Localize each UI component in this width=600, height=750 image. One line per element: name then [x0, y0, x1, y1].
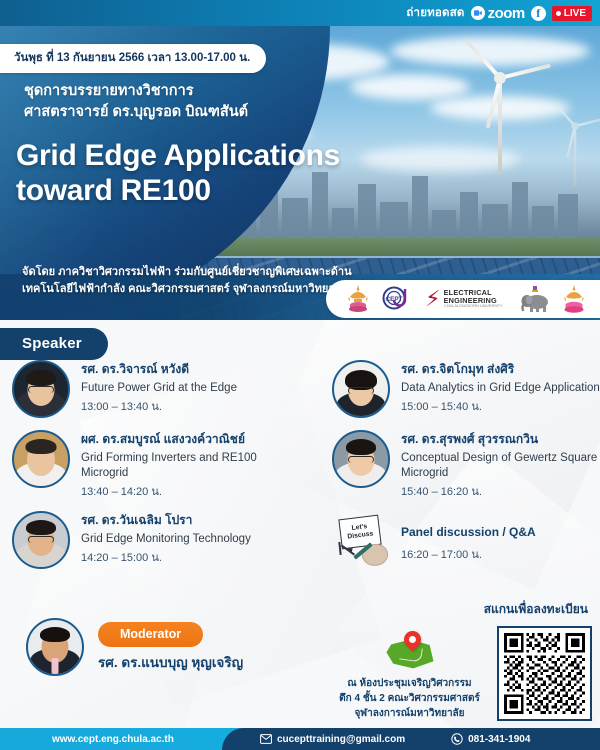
address-line-3: จุฬาลงการณ์มหาวิทยาลัย [330, 706, 489, 721]
event-date-pill: วันพุธ ที่ 13 กันยายน 2566 เวลา 13.00-17… [0, 44, 266, 73]
address-line-2: ตึก 4 ชั้น 2 คณะวิศวกรรมศาสตร์ [330, 691, 489, 706]
subtitle-line-1: ชุดการบรรยายทางวิชาการ [24, 81, 248, 102]
elephant-logo [520, 283, 552, 315]
organizer-line-1: จัดโดย ภาควิชาวิศวกรรมไฟฟ้า ร่วมกับศูนย์… [22, 264, 352, 281]
lecture-series-subtitle: ชุดการบรรยายทางวิชาการ ศาสตราจารย์ ดร.บุ… [24, 81, 248, 122]
speaker-topic: Data Analytics in Grid Edge Applications [401, 381, 600, 396]
speaker-section-badge: Speaker [0, 328, 108, 360]
partner-logo-strip: CEPT ⚡ ELECTRICAL ENGINEERING CHULALONGK… [326, 280, 600, 318]
chula-pink-emblem-logo [563, 283, 585, 315]
speaker-time: 15:00 – 15:40 น. [401, 401, 600, 414]
speaker-name: รศ. ดร.วันเฉลิม โปรา [81, 513, 251, 529]
title-line-2: toward RE100 [16, 173, 340, 208]
footer-email[interactable]: cucepttraining@gmail.com [260, 734, 405, 745]
venue-address: ณ ห้องประชุมเจริญวิศวกรรม ตึก 4 ชั้น 2 ค… [330, 676, 489, 721]
address-line-1: ณ ห้องประชุมเจริญวิศวกรรม [330, 676, 489, 691]
speaker-topic: Grid Forming Inverters and RE100 Microgr… [81, 451, 302, 481]
phone-icon [451, 733, 463, 745]
moderator-badge: Moderator [98, 622, 203, 647]
zoom-camera-icon [471, 6, 485, 20]
speaker-time: 15:40 – 16:20 น. [401, 486, 600, 499]
speaker-item: รศ. ดร.วิจารณ์ หวังดี Future Power Grid … [12, 360, 302, 418]
avatar [12, 511, 70, 569]
qr-code-icon [504, 633, 585, 714]
note-line-2: Discuss [347, 531, 374, 542]
facebook-icon[interactable]: f [531, 6, 546, 21]
speaker-item: ผศ. ดร.สมบูรณ์ แสงวงค์วาณิชย์ Grid Formi… [12, 430, 302, 499]
zoom-wordmark: zoom [488, 5, 525, 22]
location-map-graphic [386, 639, 434, 673]
lets-discuss-icon: Let's Discuss [332, 511, 390, 569]
panel-title: Panel discussion / Q&A [401, 513, 536, 539]
speaker-column-left: รศ. ดร.วิจารณ์ หวังดี Future Power Grid … [12, 360, 302, 581]
speaker-time: 13:40 – 14:20 น. [81, 486, 302, 499]
broadcast-label: ถ่ายทอดสด [406, 4, 464, 22]
avatar [332, 360, 390, 418]
arrow-icon [334, 551, 348, 563]
registration-qr-code[interactable] [497, 626, 592, 721]
footer-phone[interactable]: 081-341-1904 [451, 733, 530, 745]
speaker-item: รศ. ดร.สุรพงศ์ สุวรรณกวิน Conceptual Des… [332, 430, 600, 499]
panel-time: 16:20 – 17:00 น. [401, 545, 536, 563]
moderator-block: Moderator รศ. ดร.แนบบุญ หุญเจริญ [26, 618, 243, 676]
live-broadcast-bar: ถ่ายทอดสด zoom f LIVE [0, 0, 600, 26]
electrical-engineering-logo: ⚡ ELECTRICAL ENGINEERING CHULALONGKORN U… [425, 283, 509, 315]
live-badge-label: LIVE [564, 8, 586, 19]
speaker-topic: Grid Edge Monitoring Technology [81, 532, 251, 547]
speaker-time: 13:00 – 13:40 น. [81, 401, 237, 414]
avatar [26, 618, 84, 676]
speaker-topic: Conceptual Design of Gewertz Square Micr… [401, 451, 600, 481]
page-title: Grid Edge Applications toward RE100 [16, 138, 340, 208]
speaker-topic: Future Power Grid at the Edge [81, 381, 237, 396]
hero-banner: วันพุธ ที่ 13 กันยายน 2566 เวลา 13.00-17… [0, 26, 600, 320]
zoom-logo[interactable]: zoom [471, 5, 525, 22]
chula-emblem-logo [347, 283, 369, 315]
footer-bar: www.cept.eng.chula.ac.th cucepttraining@… [0, 728, 600, 750]
panel-discussion-item: Let's Discuss Panel discussion / Q&A 16:… [332, 511, 600, 569]
speaker-time: 14:20 – 15:00 น. [81, 552, 251, 565]
speaker-name: รศ. ดร.จิตโกมุท ส่งศิริ [401, 362, 600, 378]
content-area: Speaker รศ. ดร.วิจารณ์ หวังดี Future Pow… [0, 320, 600, 728]
speaker-item: รศ. ดร.จิตโกมุท ส่งศิริ Data Analytics i… [332, 360, 600, 418]
registration-block: สแกนเพื่อลงทะเบียน ณ ห้องประชุมเจริญวิศว… [330, 600, 592, 721]
subtitle-line-2: ศาสตราจารย์ ดร.บุญรอด บิณฑสันต์ [24, 102, 248, 123]
seminar-poster: ถ่ายทอดสด zoom f LIVE [0, 0, 600, 750]
footer-phone-text: 081-341-1904 [468, 734, 530, 745]
title-line-1: Grid Edge Applications [16, 138, 340, 173]
avatar [12, 430, 70, 488]
envelope-icon [260, 734, 272, 744]
avatar [12, 360, 70, 418]
organizer-text: จัดโดย ภาควิชาวิศวกรรมไฟฟ้า ร่วมกับศูนย์… [22, 264, 352, 298]
speaker-item: รศ. ดร.วันเฉลิม โปรา Grid Edge Monitorin… [12, 511, 302, 569]
footer-right: cucepttraining@gmail.com 081-341-1904 [222, 728, 600, 750]
organizer-line-2: เทคโนโลยีไฟฟ้ากำลัง คณะวิศวกรรมศาสตร์ จุ… [22, 281, 352, 298]
wind-turbine-secondary-graphic [545, 105, 588, 167]
speaker-name: ผศ. ดร.สมบูรณ์ แสงวงค์วาณิชย์ [81, 432, 302, 448]
speaker-name: รศ. ดร.สุรพงศ์ สุวรรณกวิน [401, 432, 600, 448]
scan-to-register-heading: สแกนเพื่อลงทะเบียน [330, 600, 592, 619]
cept-logo: CEPT [380, 283, 414, 315]
live-dot-icon [556, 11, 561, 16]
lightning-bolt-icon: ⚡ [425, 288, 440, 310]
grass-strip-graphic [180, 238, 600, 258]
speaker-name: รศ. ดร.วิจารณ์ หวังดี [81, 362, 237, 378]
footer-email-text: cucepttraining@gmail.com [277, 734, 405, 745]
avatar [332, 430, 390, 488]
wind-turbine-graphic [452, 44, 552, 174]
speaker-column-right: รศ. ดร.จิตโกมุท ส่งศิริ Data Analytics i… [332, 360, 600, 581]
live-badge: LIVE [552, 6, 592, 21]
ee-logo-line-3: CHULALONGKORN UNIVERSITY [444, 304, 503, 308]
footer-website-link[interactable]: www.cept.eng.chula.ac.th [52, 734, 174, 745]
moderator-name: รศ. ดร.แนบบุญ หุญเจริญ [98, 651, 243, 673]
